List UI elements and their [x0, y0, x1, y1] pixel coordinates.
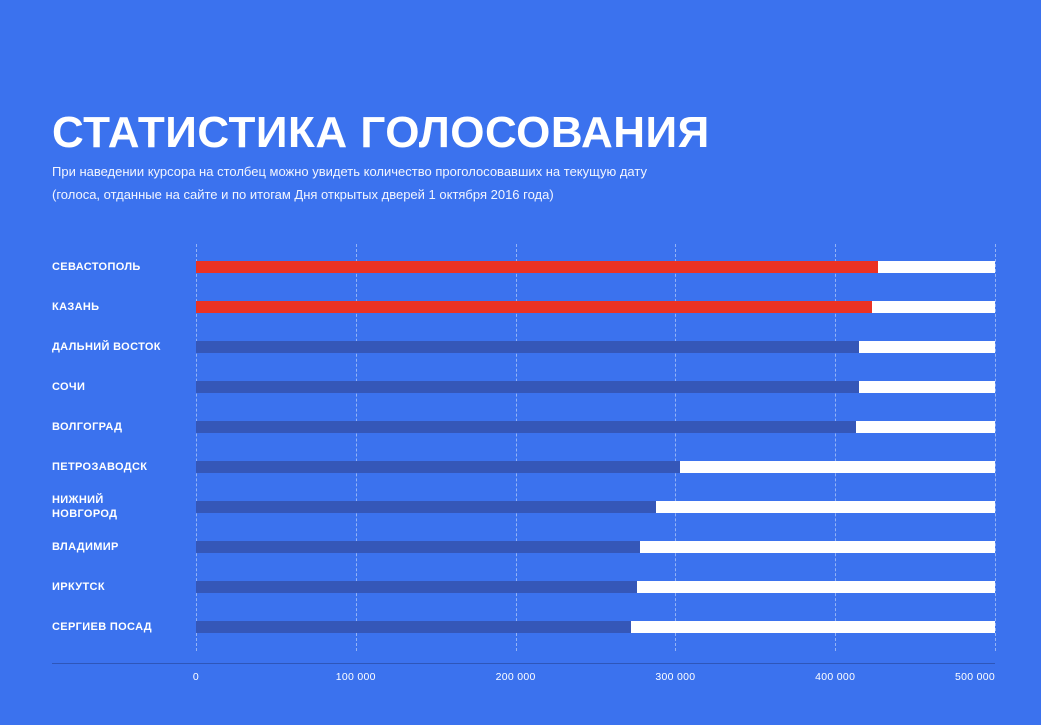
- category-label-line: СЕВАСТОПОЛЬ: [52, 260, 202, 274]
- x-tick-label: 300 000: [655, 670, 695, 684]
- bar-row[interactable]: [196, 341, 995, 353]
- bar-rows: [196, 250, 995, 650]
- category-label-line: СЕРГИЕВ ПОСАД: [52, 620, 202, 634]
- category-axis-labels: СЕВАСТОПОЛЬКАЗАНЬДАЛЬНИЙ ВОСТОКСОЧИВОЛГО…: [52, 250, 196, 650]
- bar-10[interactable]: [196, 621, 631, 633]
- x-tick-label: 400 000: [815, 670, 855, 684]
- bar-6[interactable]: [196, 461, 680, 473]
- x-axis-line: [52, 663, 995, 664]
- category-label: СОЧИ: [52, 380, 202, 394]
- bar-3[interactable]: [196, 341, 859, 353]
- x-tick-label: 100 000: [336, 670, 376, 684]
- category-label-line: ПЕТРОЗАВОДСК: [52, 460, 202, 474]
- bar-row[interactable]: [196, 461, 995, 473]
- voting-statistics-page: СТАТИСТИКА ГОЛОСОВАНИЯ При наведении кур…: [0, 0, 1041, 725]
- x-tick-label: 0: [193, 670, 199, 684]
- category-label: СЕРГИЕВ ПОСАД: [52, 620, 202, 634]
- bar-5[interactable]: [196, 421, 856, 433]
- category-label: НИЖНИЙНОВГОРОД: [52, 493, 202, 521]
- category-label-line: НОВГОРОД: [52, 507, 202, 521]
- category-label-line: ВЛАДИМИР: [52, 540, 202, 554]
- category-label-line: ВОЛГОГРАД: [52, 420, 202, 434]
- x-tick-label: 200 000: [496, 670, 536, 684]
- category-label: КАЗАНЬ: [52, 300, 202, 314]
- bar-row[interactable]: [196, 501, 995, 513]
- bar-4[interactable]: [196, 381, 859, 393]
- bar-row[interactable]: [196, 421, 995, 433]
- x-axis-tick-labels: 0100 000200 000300 000400 000500 000: [196, 670, 995, 690]
- bar-row[interactable]: [196, 381, 995, 393]
- bar-2[interactable]: [196, 301, 872, 313]
- category-label-line: НИЖНИЙ: [52, 493, 202, 507]
- category-label: ВЛАДИМИР: [52, 540, 202, 554]
- bar-1[interactable]: [196, 261, 878, 273]
- bar-row[interactable]: [196, 261, 995, 273]
- category-label: ПЕТРОЗАВОДСК: [52, 460, 202, 474]
- category-label-line: ДАЛЬНИЙ ВОСТОК: [52, 340, 202, 354]
- bar-7[interactable]: [196, 501, 656, 513]
- voting-bar-chart: СЕВАСТОПОЛЬКАЗАНЬДАЛЬНИЙ ВОСТОКСОЧИВОЛГО…: [0, 0, 1041, 725]
- category-label: СЕВАСТОПОЛЬ: [52, 260, 202, 274]
- category-label-line: СОЧИ: [52, 380, 202, 394]
- bar-row[interactable]: [196, 581, 995, 593]
- category-label: ВОЛГОГРАД: [52, 420, 202, 434]
- category-label-line: КАЗАНЬ: [52, 300, 202, 314]
- bar-9[interactable]: [196, 581, 637, 593]
- category-label: ИРКУТСК: [52, 580, 202, 594]
- category-label: ДАЛЬНИЙ ВОСТОК: [52, 340, 202, 354]
- bar-row[interactable]: [196, 301, 995, 313]
- chart-plot-area: [196, 250, 995, 650]
- bar-8[interactable]: [196, 541, 640, 553]
- bar-row[interactable]: [196, 621, 995, 633]
- gridline-500000: [995, 244, 996, 651]
- bar-row[interactable]: [196, 541, 995, 553]
- category-label-line: ИРКУТСК: [52, 580, 202, 594]
- x-tick-label: 500 000: [955, 670, 995, 684]
